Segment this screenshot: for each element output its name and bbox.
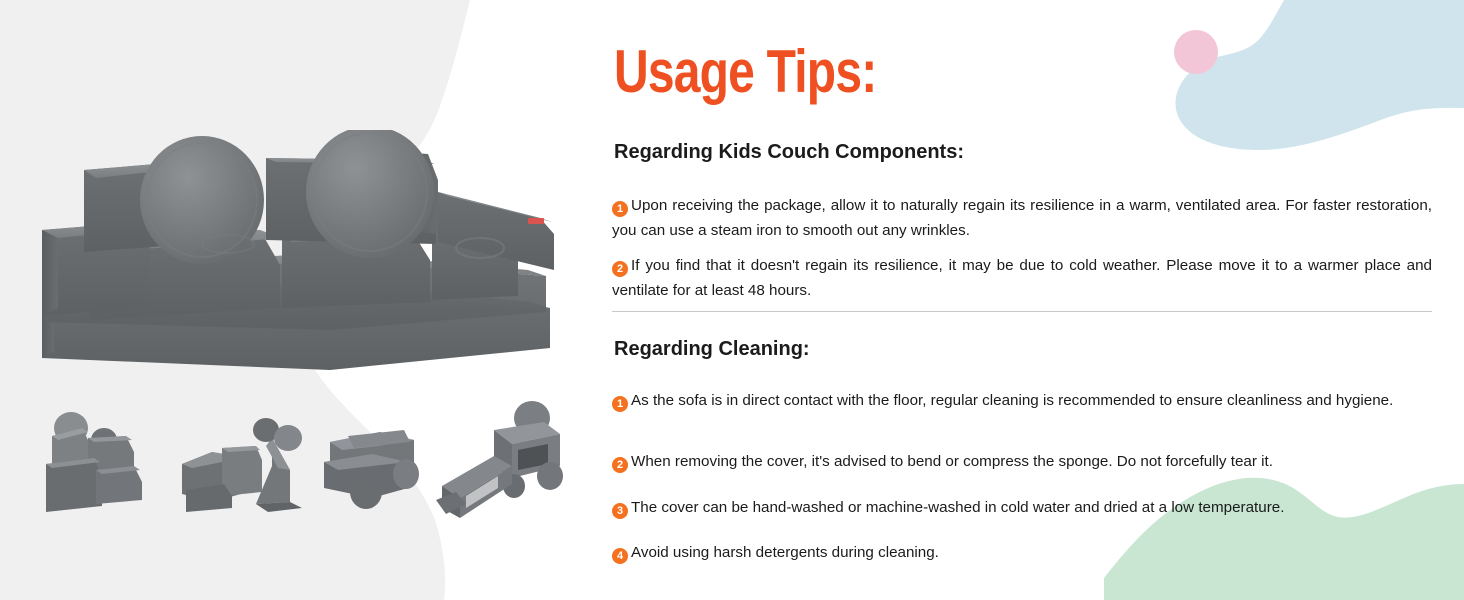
tip-text: Avoid using harsh detergents during clea… <box>631 544 939 561</box>
usage-tips-infographic: Usage Tips: Regarding Kids Couch Compone… <box>0 0 1464 600</box>
tip-cleaning-3: 3The cover can be hand-washed or machine… <box>612 495 1432 520</box>
tip-text: If you find that it doesn't regain its r… <box>612 257 1432 299</box>
tip-number-badge: 2 <box>612 457 628 473</box>
tip-text: When removing the cover, it's advised to… <box>631 453 1273 470</box>
tip-components-2: 2If you find that it doesn't regain its … <box>612 253 1432 303</box>
tip-number-badge: 1 <box>612 201 628 217</box>
tip-text: The cover can be hand-washed or machine-… <box>631 499 1284 516</box>
section-heading-components: Regarding Kids Couch Components: <box>614 140 964 164</box>
section-divider <box>612 311 1432 312</box>
tip-cleaning-2: 2When removing the cover, it's advised t… <box>612 449 1432 474</box>
product-image-group <box>0 0 600 600</box>
usage-tips-content: Usage Tips: Regarding Kids Couch Compone… <box>612 0 1436 600</box>
tip-cleaning-4: 4Avoid using harsh detergents during cle… <box>612 540 1432 565</box>
tip-cleaning-1: 1As the sofa is in direct contact with t… <box>612 388 1432 413</box>
tip-number-badge: 2 <box>612 261 628 277</box>
modular-kids-couch-image <box>30 130 575 395</box>
section-heading-cleaning: Regarding Cleaning: <box>614 337 810 361</box>
config-thumbnail-play-cart <box>318 408 438 518</box>
tip-text: As the sofa is in direct contact with th… <box>631 392 1393 409</box>
tip-text: Upon receiving the package, allow it to … <box>612 197 1432 239</box>
tip-number-badge: 4 <box>612 548 628 564</box>
config-thumbnail-bed-and-tent <box>178 408 308 518</box>
page-title: Usage Tips: <box>614 42 876 102</box>
config-thumbnail-armchair-lounger <box>38 408 158 518</box>
tip-number-badge: 1 <box>612 396 628 412</box>
tip-number-badge: 3 <box>612 503 628 519</box>
config-thumbnail-train-engine <box>432 400 572 530</box>
tip-components-1: 1Upon receiving the package, allow it to… <box>612 193 1432 243</box>
